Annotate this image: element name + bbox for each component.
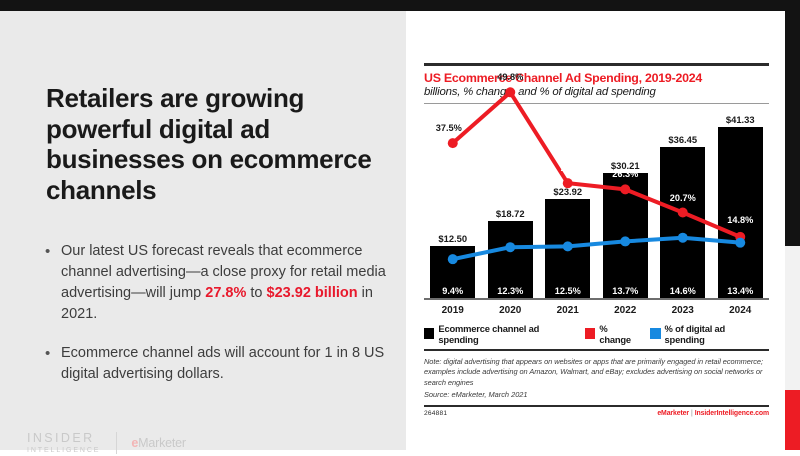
chart-red-value-label: 14.8%	[710, 215, 770, 225]
slide: Retailers are growing powerful digital a…	[0, 0, 800, 450]
chart-footer-rule	[424, 405, 769, 407]
chart-footer-branding: eMarketer|InsiderIntelligence.com	[657, 410, 769, 417]
chart-plot-area: $12.509.4%$18.7212.3%$23.9212.5%$30.2113…	[424, 108, 769, 298]
list-item: •Our latest US forecast reveals that eco…	[42, 241, 387, 325]
chart-source-text: Source: eMarketer, March 2021	[424, 390, 769, 401]
pct-change-point	[505, 87, 515, 97]
list-item: •Ecommerce channel ads will account for …	[42, 343, 387, 385]
chart-notes-top-rule	[424, 349, 769, 351]
chart-red-value-label: 49.8%	[480, 72, 540, 82]
chart-id-number: 264881	[424, 410, 447, 417]
insider-logo-line2: INTELLIGENCE	[27, 447, 100, 454]
chart-card-inner: US Ecommerce Channel Ad Spending, 2019-2…	[424, 63, 769, 417]
pct-of-digital-point	[735, 238, 745, 248]
chart-x-tick-label: 2022	[595, 305, 655, 316]
pct-of-digital-point	[678, 233, 688, 243]
bullet-emphasis: 27.8%	[205, 285, 246, 301]
chart-subtitle: billions, % change, and % of digital ad …	[424, 86, 769, 98]
pct-of-digital-point	[505, 242, 515, 252]
chart-red-value-label: 26.3%	[595, 169, 655, 179]
chart-x-tick-label: 2024	[710, 305, 770, 316]
legend-swatch-icon	[424, 328, 434, 339]
bullet-text: Our latest US forecast reveals that ecom…	[61, 241, 387, 325]
bullet-dot-icon: •	[42, 343, 61, 385]
pct-change-point	[620, 184, 630, 194]
legend-label: Ecommerce channel ad spending	[438, 323, 574, 345]
chart-header-rule	[424, 103, 769, 104]
bullet-list: •Our latest US forecast reveals that eco…	[42, 241, 387, 403]
insider-intelligence-logo: INSIDER INTELLIGENCE	[27, 432, 100, 455]
legend-item: % change	[585, 323, 639, 345]
pct-of-digital-line	[453, 238, 741, 259]
chart-x-tick-label: 2020	[480, 305, 540, 316]
legend-swatch-icon	[650, 328, 660, 339]
chart-x-tick-labels: 201920202021202220232024	[424, 303, 769, 320]
legend-item: Ecommerce channel ad spending	[424, 323, 574, 345]
chart-line-overlay	[424, 108, 769, 298]
pct-change-point	[678, 208, 688, 218]
bullet-span: to	[246, 285, 266, 301]
chart-card: US Ecommerce Channel Ad Spending, 2019-2…	[406, 11, 785, 450]
bullet-text: Ecommerce channel ads will account for 1…	[61, 343, 387, 385]
pct-of-digital-point	[448, 254, 458, 264]
bullet-span: Ecommerce channel ads will account for 1…	[61, 345, 384, 382]
legend-item: % of digital ad spending	[650, 323, 762, 345]
chart-top-rule	[424, 63, 769, 66]
chart-red-value-label: 37.5%	[419, 123, 479, 133]
left-content-panel: Retailers are growing powerful digital a…	[0, 11, 406, 450]
pct-change-point	[448, 138, 458, 148]
chart-title: US Ecommerce Channel Ad Spending, 2019-2…	[424, 71, 769, 85]
chart-notes: Note: digital advertising that appears o…	[424, 357, 769, 401]
footer-separator: |	[691, 410, 693, 417]
chart-x-tick-label: 2021	[538, 305, 598, 316]
chart-red-value-label: 20.7%	[653, 193, 713, 203]
insider-logo-line1: INSIDER	[27, 432, 100, 445]
chart-legend: Ecommerce channel ad spending% change% o…	[424, 323, 769, 345]
right-edge-gray-strip	[785, 246, 800, 390]
chart-note-text: Note: digital advertising that appears o…	[424, 357, 769, 389]
legend-label: % of digital ad spending	[665, 323, 762, 345]
legend-label: % change	[599, 323, 639, 345]
slide-headline: Retailers are growing powerful digital a…	[46, 83, 376, 206]
right-edge-dark-strip	[785, 0, 800, 246]
emarketer-logo-rest: Marketer	[138, 436, 186, 450]
footer-emarketer-label: eMarketer	[657, 410, 689, 417]
chart-x-tick-label: 2023	[653, 305, 713, 316]
bullet-dot-icon: •	[42, 241, 61, 325]
pct-of-digital-point	[563, 241, 573, 251]
emarketer-logo: eMarketer	[131, 436, 185, 450]
pct-change-point	[563, 178, 573, 188]
brand-divider	[116, 432, 117, 454]
footer-site-label: InsiderIntelligence.com	[695, 410, 769, 417]
bullet-emphasis: $23.92 billion	[267, 285, 358, 301]
brand-logo-bar: INSIDER INTELLIGENCE eMarketer	[27, 430, 186, 456]
chart-x-tick-label: 2019	[423, 305, 483, 316]
legend-swatch-icon	[585, 328, 595, 339]
chart-x-axis	[424, 298, 769, 300]
chart-footer: 264881 eMarketer|InsiderIntelligence.com	[424, 410, 769, 417]
pct-of-digital-point	[620, 236, 630, 246]
top-accent-bar	[0, 0, 800, 11]
right-edge-red-strip	[785, 390, 800, 450]
